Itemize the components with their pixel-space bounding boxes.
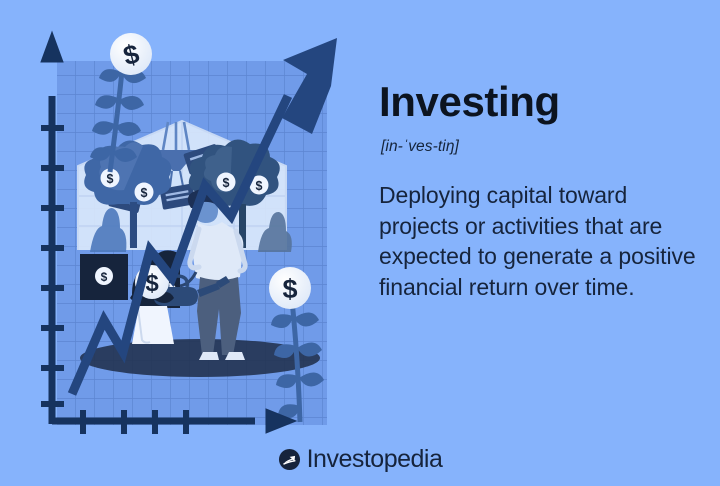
svg-text:$: $ (101, 270, 108, 284)
investopedia-logo: Investopedia (0, 447, 720, 472)
svg-text:$: $ (282, 274, 297, 304)
coin-right: $ (269, 267, 311, 309)
svg-text:$: $ (107, 172, 114, 186)
definition-block: Investing [in-ˈves-tiŋ] Deploying capita… (379, 80, 699, 302)
investopedia-bolt-icon (278, 448, 301, 471)
svg-text:$: $ (223, 176, 230, 190)
svg-text:$: $ (256, 179, 263, 193)
coin-top: $ (110, 33, 152, 75)
infographic-card: $ $ $ $ $ (0, 0, 720, 486)
svg-text:$: $ (141, 186, 148, 200)
investing-greenhouse-illustration: $ $ $ $ $ (0, 0, 360, 440)
brand-name: Investopedia (307, 447, 443, 472)
planter-box-left: $ (80, 254, 128, 300)
pronunciation: [in-ˈves-tiŋ] (381, 138, 699, 156)
definition-text: Deploying capital toward projects or act… (379, 180, 699, 302)
page-title: Investing (379, 80, 699, 124)
